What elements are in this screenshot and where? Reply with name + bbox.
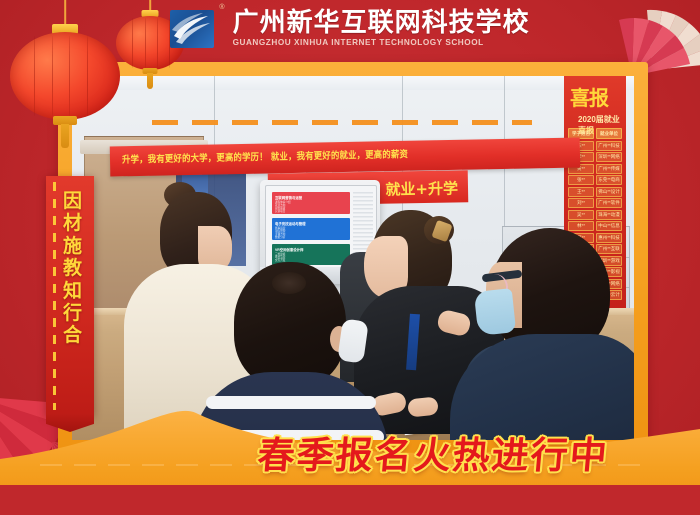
table-cell: 王** [568, 187, 594, 197]
table-cell: 佛山**设计 [596, 187, 622, 197]
poster-title: 喜报 [570, 82, 608, 111]
table-header-cell: 就业单位 [596, 128, 622, 139]
vertical-slogan-banner: 因材施教 知行合 [46, 176, 94, 416]
screen-block-title: 电子竞技运动与管理 [275, 221, 350, 226]
table-cell: 广州**科技 [596, 141, 622, 151]
registered-trademark-icon: ® [219, 4, 224, 11]
photo-frame: 喜报 2020届就业喜报 学子姓名 就业单位 陈**广州**科技 李**深圳**… [58, 62, 648, 454]
table-row: 张**东莞**电商 [568, 175, 622, 185]
xinhua-swoosh-logo-icon [170, 10, 214, 48]
table-cell: 广州**传媒 [596, 164, 622, 174]
table-cell: 林** [568, 221, 594, 231]
wall-dash-decor [152, 120, 532, 125]
visitor-face-mask [474, 288, 516, 336]
bottom-headline: 春季报名火热进行中 [256, 425, 612, 479]
wall-slogan-text: 升学，我有更好的大学，更高的学历！ 就业，我有更好的就业，更高的薪资 [122, 144, 574, 166]
school-name-en: GUANGZHOU XINHUA INTERNET TECHNOLOGY SCH… [233, 39, 530, 47]
screen-block-title: 互联网营销与运营 [275, 195, 350, 200]
table-cell: 刘** [568, 198, 594, 208]
student-center-crown [272, 272, 306, 294]
wall-slogan-secondary-text: 就业+升学 [385, 177, 458, 199]
classroom-photo: 喜报 2020届就业喜报 学子姓名 就业单位 陈**广州**科技 李**深圳**… [72, 76, 634, 440]
screen-block-title: VR空间创意设计师 [275, 247, 350, 252]
screen-block-red: 互联网营销与运营 课程体系介绍 就业方向 岗位薪资 实训项目 [272, 192, 350, 214]
table-row: 林**中山**信息 [568, 221, 622, 231]
table-row: 王**佛山**设计 [568, 187, 622, 197]
table-cell: 珠海**动漫 [596, 210, 622, 220]
table-cell: 广州**软件 [596, 198, 622, 208]
table-cell: 东莞**电商 [596, 175, 622, 185]
table-cell: 惠州**科技 [596, 233, 622, 243]
table-row: 吴**珠海**动漫 [568, 210, 622, 220]
vertical-slogan-text: 因材施教 知行合 [63, 190, 89, 347]
table-cell: 吴** [568, 210, 594, 220]
screen-block-line: 实训项目 [275, 210, 350, 213]
screen-block-blue: 电子竞技运动与管理 赛事运营 战队管理 主播方向 数据分析 [272, 218, 350, 240]
table-cell: 广州**互联 [596, 244, 622, 254]
poster-header: ® 广州新华互联网科技学校 GUANGZHOU XINHUA INTERNET … [0, 0, 700, 58]
school-name-cn: 广州新华互联网科技学校 [233, 10, 530, 36]
school-name-block: 广州新华互联网科技学校 GUANGZHOU XINHUA INTERNET TE… [233, 10, 530, 47]
table-cell: 张** [568, 175, 594, 185]
table-cell: 深圳**网络 [596, 152, 622, 162]
promotional-poster: ® 广州新华互联网科技学校 GUANGZHOU XINHUA INTERNET … [0, 0, 700, 515]
screen-block-line: 数据分析 [275, 236, 350, 239]
table-cell: 中山**信息 [596, 221, 622, 231]
table-row: 刘**广州**软件 [568, 198, 622, 208]
shirt-stripe [206, 396, 376, 409]
